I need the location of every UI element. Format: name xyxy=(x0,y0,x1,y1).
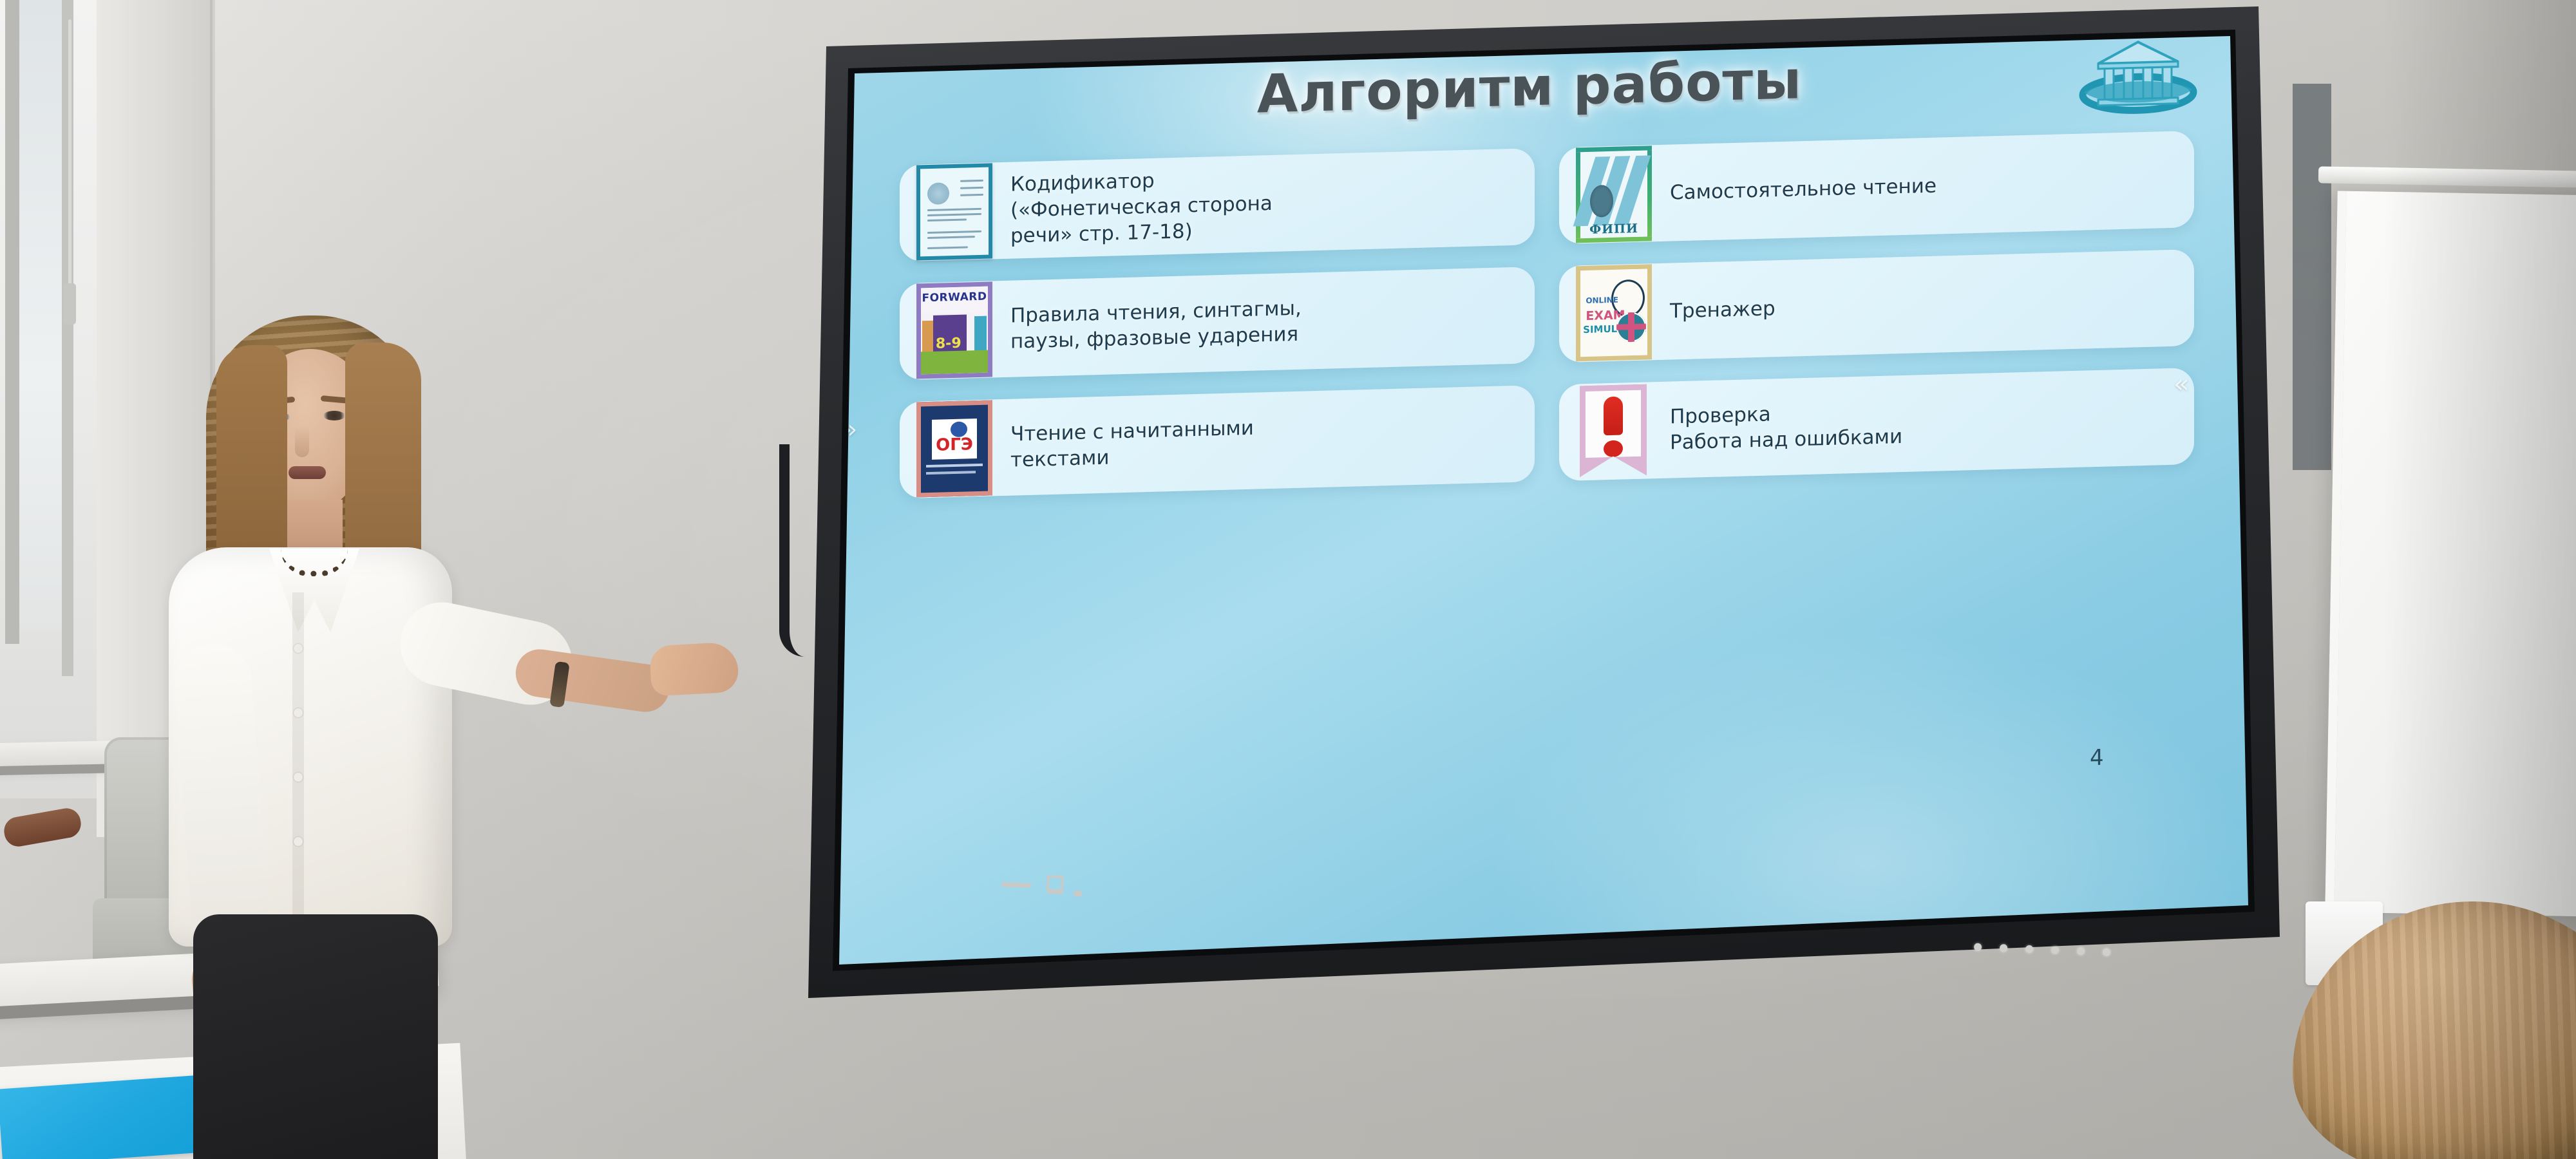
card-label: Кодификатор («Фонетическая сторона речи»… xyxy=(1010,164,1273,249)
forward-wordmark: FORWARD xyxy=(921,290,988,305)
online-exam-simulator-thumbnail: ONLINE EXAM SIMULATOR xyxy=(1576,264,1652,361)
card-label: Правила чтения, синтагмы, паузы, фразовы… xyxy=(1010,295,1302,355)
forward-grade: 8-9 xyxy=(936,335,961,352)
display-cable xyxy=(779,444,806,657)
window xyxy=(0,0,97,798)
wall-dark-strip xyxy=(2293,84,2331,470)
presenter-hand-pointing xyxy=(649,641,739,696)
presenter-nose xyxy=(295,426,309,457)
codifier-document-icon xyxy=(916,163,992,260)
exclamation-ribbon-thumbnail xyxy=(1576,382,1652,480)
bezel-dot[interactable] xyxy=(2000,944,2007,952)
exclamation-bar xyxy=(1604,396,1623,435)
presenter-blouse-button xyxy=(294,708,303,717)
screenshot-scene: Алгоритм работы xyxy=(0,0,2576,1159)
simulator-line-1: ONLINE xyxy=(1586,296,1618,305)
classical-building-icon xyxy=(2074,33,2202,120)
card-row: ОГЭ Чтение с начитанными текстами xyxy=(900,368,2194,498)
document-codifier-thumbnail xyxy=(916,163,992,260)
codifier-seal xyxy=(927,182,949,205)
exam-simulator-icon: ONLINE EXAM SIMULATOR xyxy=(1576,264,1652,361)
card-row: Кодификатор («Фонетическая сторона речи»… xyxy=(900,131,2194,261)
presenter-blouse-button xyxy=(294,644,303,653)
window-frame-left xyxy=(5,0,19,644)
card-check-errors[interactable]: Проверка Работа над ошибками xyxy=(1559,368,2194,481)
union-jack-icon xyxy=(1616,312,1646,342)
card-row: FORWARD 8-9 Правила чтения, синтагмы, па… xyxy=(900,249,2194,380)
card-self-reading[interactable]: ФИПИ Самостоятельное чтение xyxy=(1559,131,2194,244)
bezel-ports[interactable] xyxy=(1001,872,1130,903)
toolbar-handle-right-icon[interactable]: « xyxy=(2173,369,2189,399)
bezel-dot[interactable] xyxy=(2025,945,2033,953)
bezel-dot[interactable] xyxy=(1974,943,1982,951)
card-simulator[interactable]: ONLINE EXAM SIMULATOR Тренажер xyxy=(1559,249,2194,363)
right-vignette xyxy=(2383,0,2576,1159)
presenter-blouse-button xyxy=(294,837,303,846)
presenter-mouth xyxy=(289,466,326,479)
card-label: Самостоятельное чтение xyxy=(1670,173,1937,205)
fipi-oval xyxy=(1590,185,1613,218)
fipi-logo-thumbnail: ФИПИ xyxy=(1576,146,1652,243)
oge-book-icon: ОГЭ xyxy=(916,400,992,497)
display-screen[interactable]: Алгоритм работы xyxy=(808,6,2280,1001)
fipi-logo-icon: ФИПИ xyxy=(1576,146,1652,243)
slide-page-number: 4 xyxy=(2090,745,2104,771)
forward-textbook-thumbnail: FORWARD 8-9 xyxy=(916,281,992,379)
oge-wordmark: ОГЭ xyxy=(921,434,988,455)
presenter-teacher xyxy=(155,309,618,1159)
blind-cord xyxy=(68,19,71,290)
presentation-slide: Алгоритм работы xyxy=(808,6,2280,1001)
window-frame-right xyxy=(62,0,73,676)
bezel-dot[interactable] xyxy=(2051,946,2059,954)
institution-logo xyxy=(2074,33,2202,120)
interactive-flat-panel[interactable]: Алгоритм работы xyxy=(808,6,2280,1001)
oge-book-thumbnail: ОГЭ xyxy=(916,400,992,497)
fipi-wordmark: ФИПИ xyxy=(1580,221,1647,237)
card-label: Чтение с начитанными текстами xyxy=(1010,415,1254,473)
window-glass xyxy=(19,0,62,631)
card-label: Тренажер xyxy=(1670,296,1776,325)
presenter-eye-right xyxy=(323,411,345,420)
card-recorded-texts[interactable]: ОГЭ Чтение с начитанными текстами xyxy=(900,385,1535,498)
presenter-trousers xyxy=(193,914,438,1159)
bezel-dot[interactable] xyxy=(2077,947,2085,955)
card-codifier[interactable]: Кодификатор («Фонетическая сторона речи»… xyxy=(900,148,1535,261)
blind-weight xyxy=(63,283,76,325)
forward-book-icon: FORWARD 8-9 xyxy=(916,281,992,379)
presenter-blouse-button xyxy=(294,773,303,782)
card-label: Проверка Работа над ошибками xyxy=(1670,398,1902,456)
card-reading-rules[interactable]: FORWARD 8-9 Правила чтения, синтагмы, па… xyxy=(900,267,1535,380)
bezel-dot[interactable] xyxy=(2103,948,2110,956)
slide-card-grid: Кодификатор («Фонетическая сторона речи»… xyxy=(900,131,2194,520)
exclamation-ribbon-icon xyxy=(1580,384,1647,477)
